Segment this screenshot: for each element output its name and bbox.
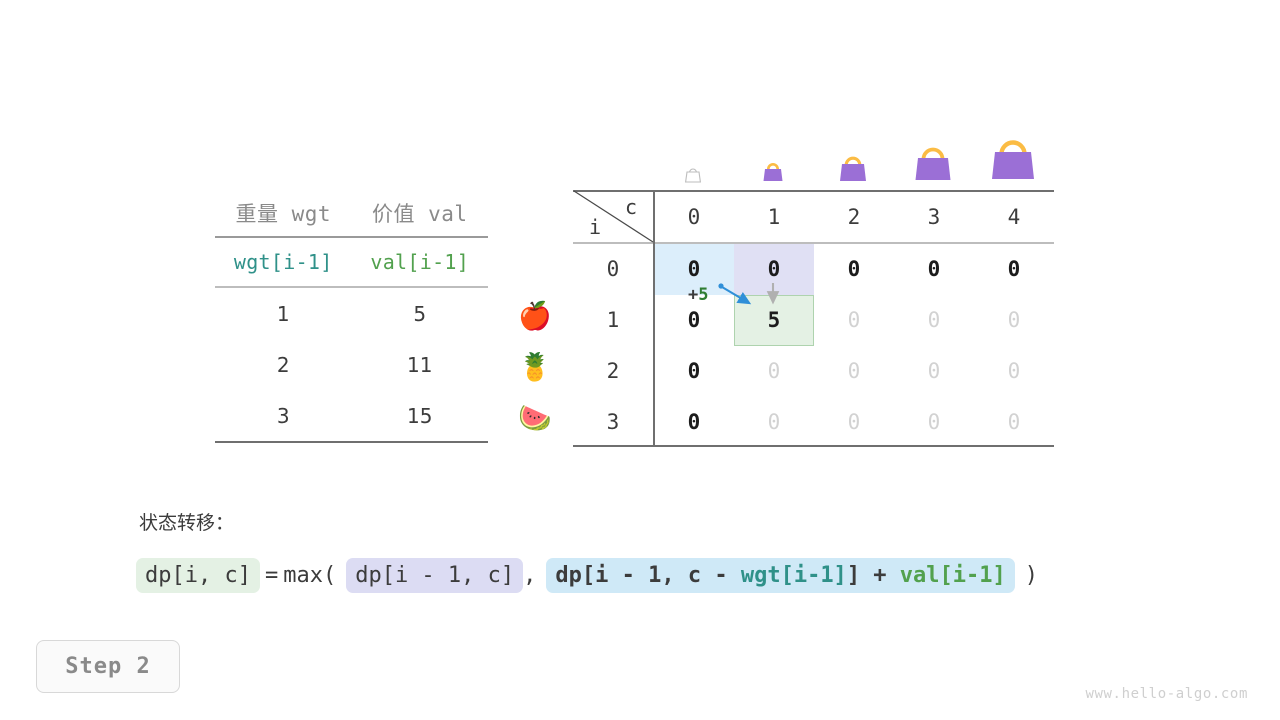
dp-cell-i3-c3: 0 <box>894 410 974 434</box>
items-table-grid: 重量 wgt 价值 val wgt[i-1] val[i-1] 1 5 2 11… <box>215 190 488 443</box>
items-row-3: 3 15 <box>215 390 488 441</box>
items-row-1-val: 5 <box>352 287 489 339</box>
items-subheader-val: val[i-1] <box>352 237 489 286</box>
dp-col-header-2: 2 <box>814 205 894 229</box>
formula-equals: = <box>260 563 283 588</box>
value-gain-sign: + <box>688 285 698 305</box>
pineapple-icon: 🍍 <box>505 354 565 381</box>
dp-cell-i2-c2: 0 <box>814 359 894 383</box>
transition-label: 状态转移： <box>139 508 234 535</box>
dp-row-header-3: 3 <box>573 410 653 434</box>
dp-cell-i1-c0: 0 <box>654 308 734 332</box>
formula-close-paren: ) <box>1025 563 1038 588</box>
dp-row-header-0: 0 <box>573 257 653 281</box>
dp-col-header-4: 4 <box>974 205 1054 229</box>
dp-cell-i2-c0: 0 <box>654 359 734 383</box>
dp-cell-i0-c1: 0 <box>734 257 814 281</box>
dp-cell-i0-c2: 0 <box>814 257 894 281</box>
value-gain-amount: 5 <box>698 285 708 305</box>
watermark: www.hello-algo.com <box>1085 686 1248 702</box>
dp-axis-label-c: c <box>625 195 637 219</box>
dp-rule-bottom <box>573 445 1054 447</box>
dp-axis-label-i: i <box>589 215 601 239</box>
items-table: 重量 wgt 价值 val wgt[i-1] val[i-1] 1 5 2 11… <box>215 190 488 443</box>
formula-comma: , <box>523 563 536 588</box>
transition-formula: dp[i, c] = max( dp[i - 1, c] , dp[i - 1,… <box>136 558 1038 593</box>
dp-corner-diagonal-icon <box>573 190 654 243</box>
dp-cell-i3-c0: 0 <box>654 410 734 434</box>
dp-col-header-1: 1 <box>734 205 814 229</box>
items-row-2: 2 11 <box>215 339 488 390</box>
items-row-3-wgt: 3 <box>215 390 352 441</box>
formula-option-take: dp[i - 1, c - wgt[i-1]] + val[i-1] <box>546 558 1014 593</box>
dp-cell-i0-c4: 0 <box>974 257 1054 281</box>
dp-cell-i1-c1: 5 <box>734 308 814 332</box>
dp-cell-i0-c0: 0 <box>654 257 734 281</box>
items-row-2-wgt: 2 <box>215 339 352 390</box>
dp-cell-i2-c3: 0 <box>894 359 974 383</box>
bag-icons-row <box>653 125 1053 187</box>
dp-cell-i0-c3: 0 <box>894 257 974 281</box>
dp-table: c i 0 1 2 3 4 0 1 2 3 0 0 0 0 0 0 5 0 0 … <box>573 190 1054 445</box>
watermelon-icon: 🍉 <box>505 405 565 432</box>
apple-icon: 🍎 <box>505 303 565 330</box>
dp-cell-i3-c2: 0 <box>814 410 894 434</box>
formula-option-take-prefix: dp[i - 1, c - <box>555 563 740 588</box>
dp-col-header-0: 0 <box>654 205 734 229</box>
dp-cell-i3-c1: 0 <box>734 410 814 434</box>
dp-cell-i1-c4: 0 <box>974 308 1054 332</box>
dp-cell-i1-c3: 0 <box>894 308 974 332</box>
dp-rule-top <box>573 190 1054 192</box>
items-table-header-row: 重量 wgt 价值 val <box>215 190 488 236</box>
items-row-1: 1 5 <box>215 287 488 339</box>
items-rule-bottom <box>215 441 488 442</box>
formula-option-take-mid: ] + <box>847 563 900 588</box>
dp-cell-i3-c4: 0 <box>974 410 1054 434</box>
bag-capacity-1-icon <box>733 157 813 187</box>
formula-val-term: val[i-1] <box>900 563 1006 588</box>
step-badge: Step 2 <box>36 640 180 693</box>
dp-rule-under-header <box>573 242 1054 244</box>
bag-capacity-0-icon <box>653 164 733 187</box>
bag-capacity-3-icon <box>893 140 973 187</box>
items-row-1-wgt: 1 <box>215 287 352 339</box>
dp-row-header-2: 2 <box>573 359 653 383</box>
dp-col-header-3: 3 <box>894 205 974 229</box>
dp-cell-i1-c2: 0 <box>814 308 894 332</box>
items-row-3-val: 15 <box>352 390 489 441</box>
dp-cell-i2-c1: 0 <box>734 359 814 383</box>
items-header-weight: 重量 wgt <box>215 190 352 236</box>
dp-row-header-1: 1 <box>573 308 653 332</box>
value-gain-annotation: +5 <box>688 285 709 305</box>
bag-capacity-2-icon <box>813 150 893 187</box>
items-row-2-val: 11 <box>352 339 489 390</box>
formula-target: dp[i, c] <box>136 558 260 593</box>
formula-option-skip: dp[i - 1, c] <box>346 558 523 593</box>
formula-wgt-term: wgt[i-1] <box>741 563 847 588</box>
bag-capacity-4-icon <box>973 130 1053 187</box>
items-subheader-wgt: wgt[i-1] <box>215 237 352 286</box>
slide-canvas: 重量 wgt 价值 val wgt[i-1] val[i-1] 1 5 2 11… <box>0 0 1280 720</box>
formula-max-open: max( <box>283 563 336 588</box>
dp-cell-i2-c4: 0 <box>974 359 1054 383</box>
items-header-value: 价值 val <box>352 190 489 236</box>
items-subheader-row: wgt[i-1] val[i-1] <box>215 237 488 286</box>
